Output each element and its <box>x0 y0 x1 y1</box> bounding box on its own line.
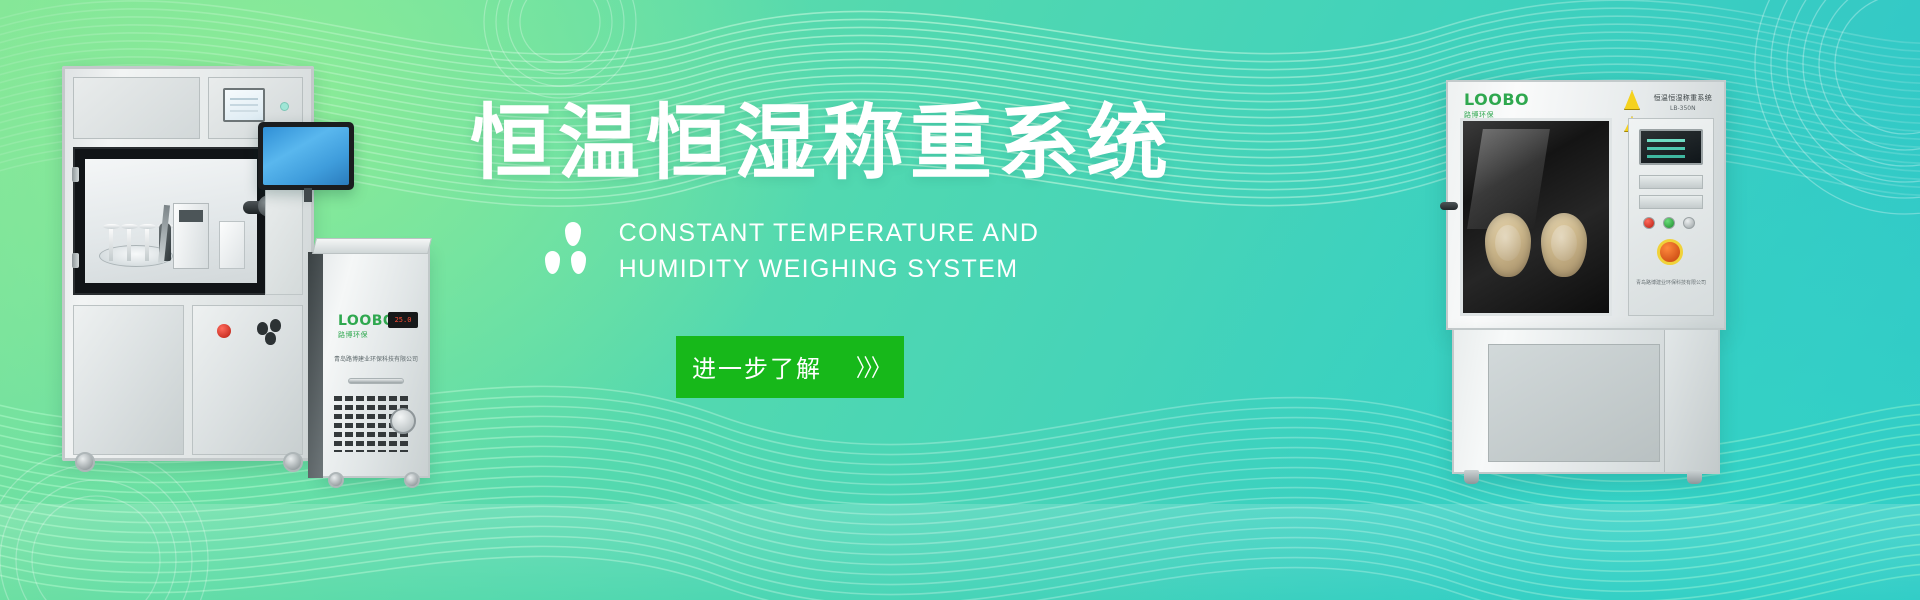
emergency-stop-icon <box>217 324 231 338</box>
microbalance-unit <box>173 203 209 269</box>
power-button-icon <box>1643 217 1655 229</box>
filter-disc <box>121 224 138 229</box>
brand-name-text: LOOBO <box>1464 92 1529 108</box>
grille-slat <box>367 396 375 452</box>
pressure-gauge-icon <box>390 408 416 434</box>
subtitle-line-1: CONSTANT TEMPERATURE AND <box>619 215 1040 252</box>
reset-button-icon <box>1683 217 1695 229</box>
chamber-control-panel: 青岛路博建业环保科技有限公司 <box>1628 118 1714 316</box>
grille-slat <box>345 396 353 452</box>
cta-row: 进一步了解 〉〉〉 <box>470 336 1110 398</box>
cabinet-lower-doors <box>73 305 303 455</box>
nameplate-line-1: 恒温恒湿称重系统 <box>1654 93 1712 103</box>
door-hinge-icon <box>72 253 79 268</box>
chiller-handle <box>348 378 404 384</box>
port-hole <box>270 319 281 332</box>
subtitle-line-2: HUMIDITY WEIGHING SYSTEM <box>619 251 1040 288</box>
stand-foot <box>1464 470 1479 484</box>
subtitle-row: CONSTANT TEMPERATURE AND HUMIDITY WEIGHI… <box>470 215 1110 288</box>
filter-disc <box>139 224 156 229</box>
learn-more-button[interactable]: 进一步了解 〉〉〉 <box>676 336 904 398</box>
chiller-unit: LOOBO 路博环保 25.0 青岛路博建业环保科技有限公司 <box>320 246 430 478</box>
learn-more-label: 进一步了解 <box>692 349 822 384</box>
monitor-arm <box>304 188 312 202</box>
water-drop-icon <box>545 251 560 274</box>
control-strip <box>1639 195 1703 209</box>
touchscreen-monitor <box>258 122 354 190</box>
chiller-brand-logo: LOOBO 路博环保 <box>338 314 395 340</box>
control-panel-note: 青岛路博建业环保科技有限公司 <box>1635 279 1707 286</box>
carousel-post <box>127 227 131 261</box>
start-button-icon <box>1663 217 1675 229</box>
chamber-stand <box>1452 328 1720 474</box>
chiller-temperature-value: 25.0 <box>395 316 412 324</box>
stand-side-column <box>1664 330 1718 472</box>
chiller-side-face <box>308 252 323 478</box>
weighing-chamber-interior <box>85 159 257 283</box>
carousel-post <box>145 227 149 261</box>
grille-slat <box>334 396 342 452</box>
hero-text-block: 恒温恒湿称重系统 CONSTANT TEMPERATURE AND HUMIDI… <box>470 96 1110 398</box>
glove-port-icon <box>1485 213 1531 277</box>
control-strip <box>1639 175 1703 189</box>
stand-foot <box>1687 470 1702 484</box>
monitor-screen <box>263 127 349 185</box>
cabinet-panel-left <box>73 77 200 139</box>
chamber-door-lever <box>1440 202 1458 210</box>
port-hole <box>265 332 276 345</box>
chiller-company-text: 青岛路博建业环保科技有限公司 <box>330 354 422 363</box>
caster-wheel-icon <box>328 472 344 488</box>
grille-slat <box>356 396 364 452</box>
glove-port-icon <box>1541 213 1587 277</box>
nameplate-line-2: LB-350N <box>1654 105 1712 112</box>
environmental-chamber-body: LOOBO 路博环保 恒温恒湿称重系统 LB-350N <box>1446 80 1726 330</box>
water-drop-icon-group <box>541 220 603 282</box>
water-drop-icon <box>565 222 581 246</box>
port-holes <box>257 322 289 342</box>
chamber-brand-logo: LOOBO 路博环保 <box>1464 92 1529 120</box>
left-equipment-photo: LOOBO 路博环保 25.0 青岛路博建业环保科技有限公司 <box>62 66 422 486</box>
chevron-right-icon: 〉〉〉 <box>856 350 888 384</box>
caster-wheel-icon <box>404 472 420 488</box>
chamber-side-module <box>219 221 245 269</box>
stand-recess <box>1488 344 1660 462</box>
water-drop-icon <box>571 251 586 274</box>
caster-wheel-icon <box>75 452 95 472</box>
hero-banner: LOOBO 路博环保 25.0 青岛路博建业环保科技有限公司 <box>0 0 1920 600</box>
controller-display <box>223 88 265 122</box>
right-equipment-photo: LOOBO 路博环保 恒温恒湿称重系统 LB-350N <box>1424 80 1724 490</box>
warning-triangle-icon <box>1624 90 1640 110</box>
emergency-stop-icon <box>1657 239 1683 265</box>
status-led-icon <box>280 102 289 111</box>
caster-wheel-icon <box>283 452 303 472</box>
floor-reflection <box>0 504 1920 600</box>
brand-sub-text: 路博环保 <box>338 330 395 340</box>
chiller-top-face <box>312 238 432 254</box>
chiller-temperature-display: 25.0 <box>388 312 418 328</box>
cabinet-door-right <box>192 305 303 455</box>
chamber-view-window <box>73 147 269 295</box>
chamber-nameplate: 恒温恒湿称重系统 LB-350N <box>1654 93 1712 112</box>
page-title: 恒温恒湿称重系统 <box>470 96 1110 193</box>
carousel-post <box>109 227 113 261</box>
door-hinge-icon <box>72 167 79 182</box>
control-display <box>1639 129 1703 165</box>
chamber-glass-window <box>1460 118 1612 316</box>
subtitle-english: CONSTANT TEMPERATURE AND HUMIDITY WEIGHI… <box>619 215 1040 288</box>
cabinet-door-left <box>73 305 184 455</box>
brand-name-text: LOOBO <box>338 314 395 328</box>
filter-disc <box>103 224 120 229</box>
grille-slat <box>378 396 386 452</box>
